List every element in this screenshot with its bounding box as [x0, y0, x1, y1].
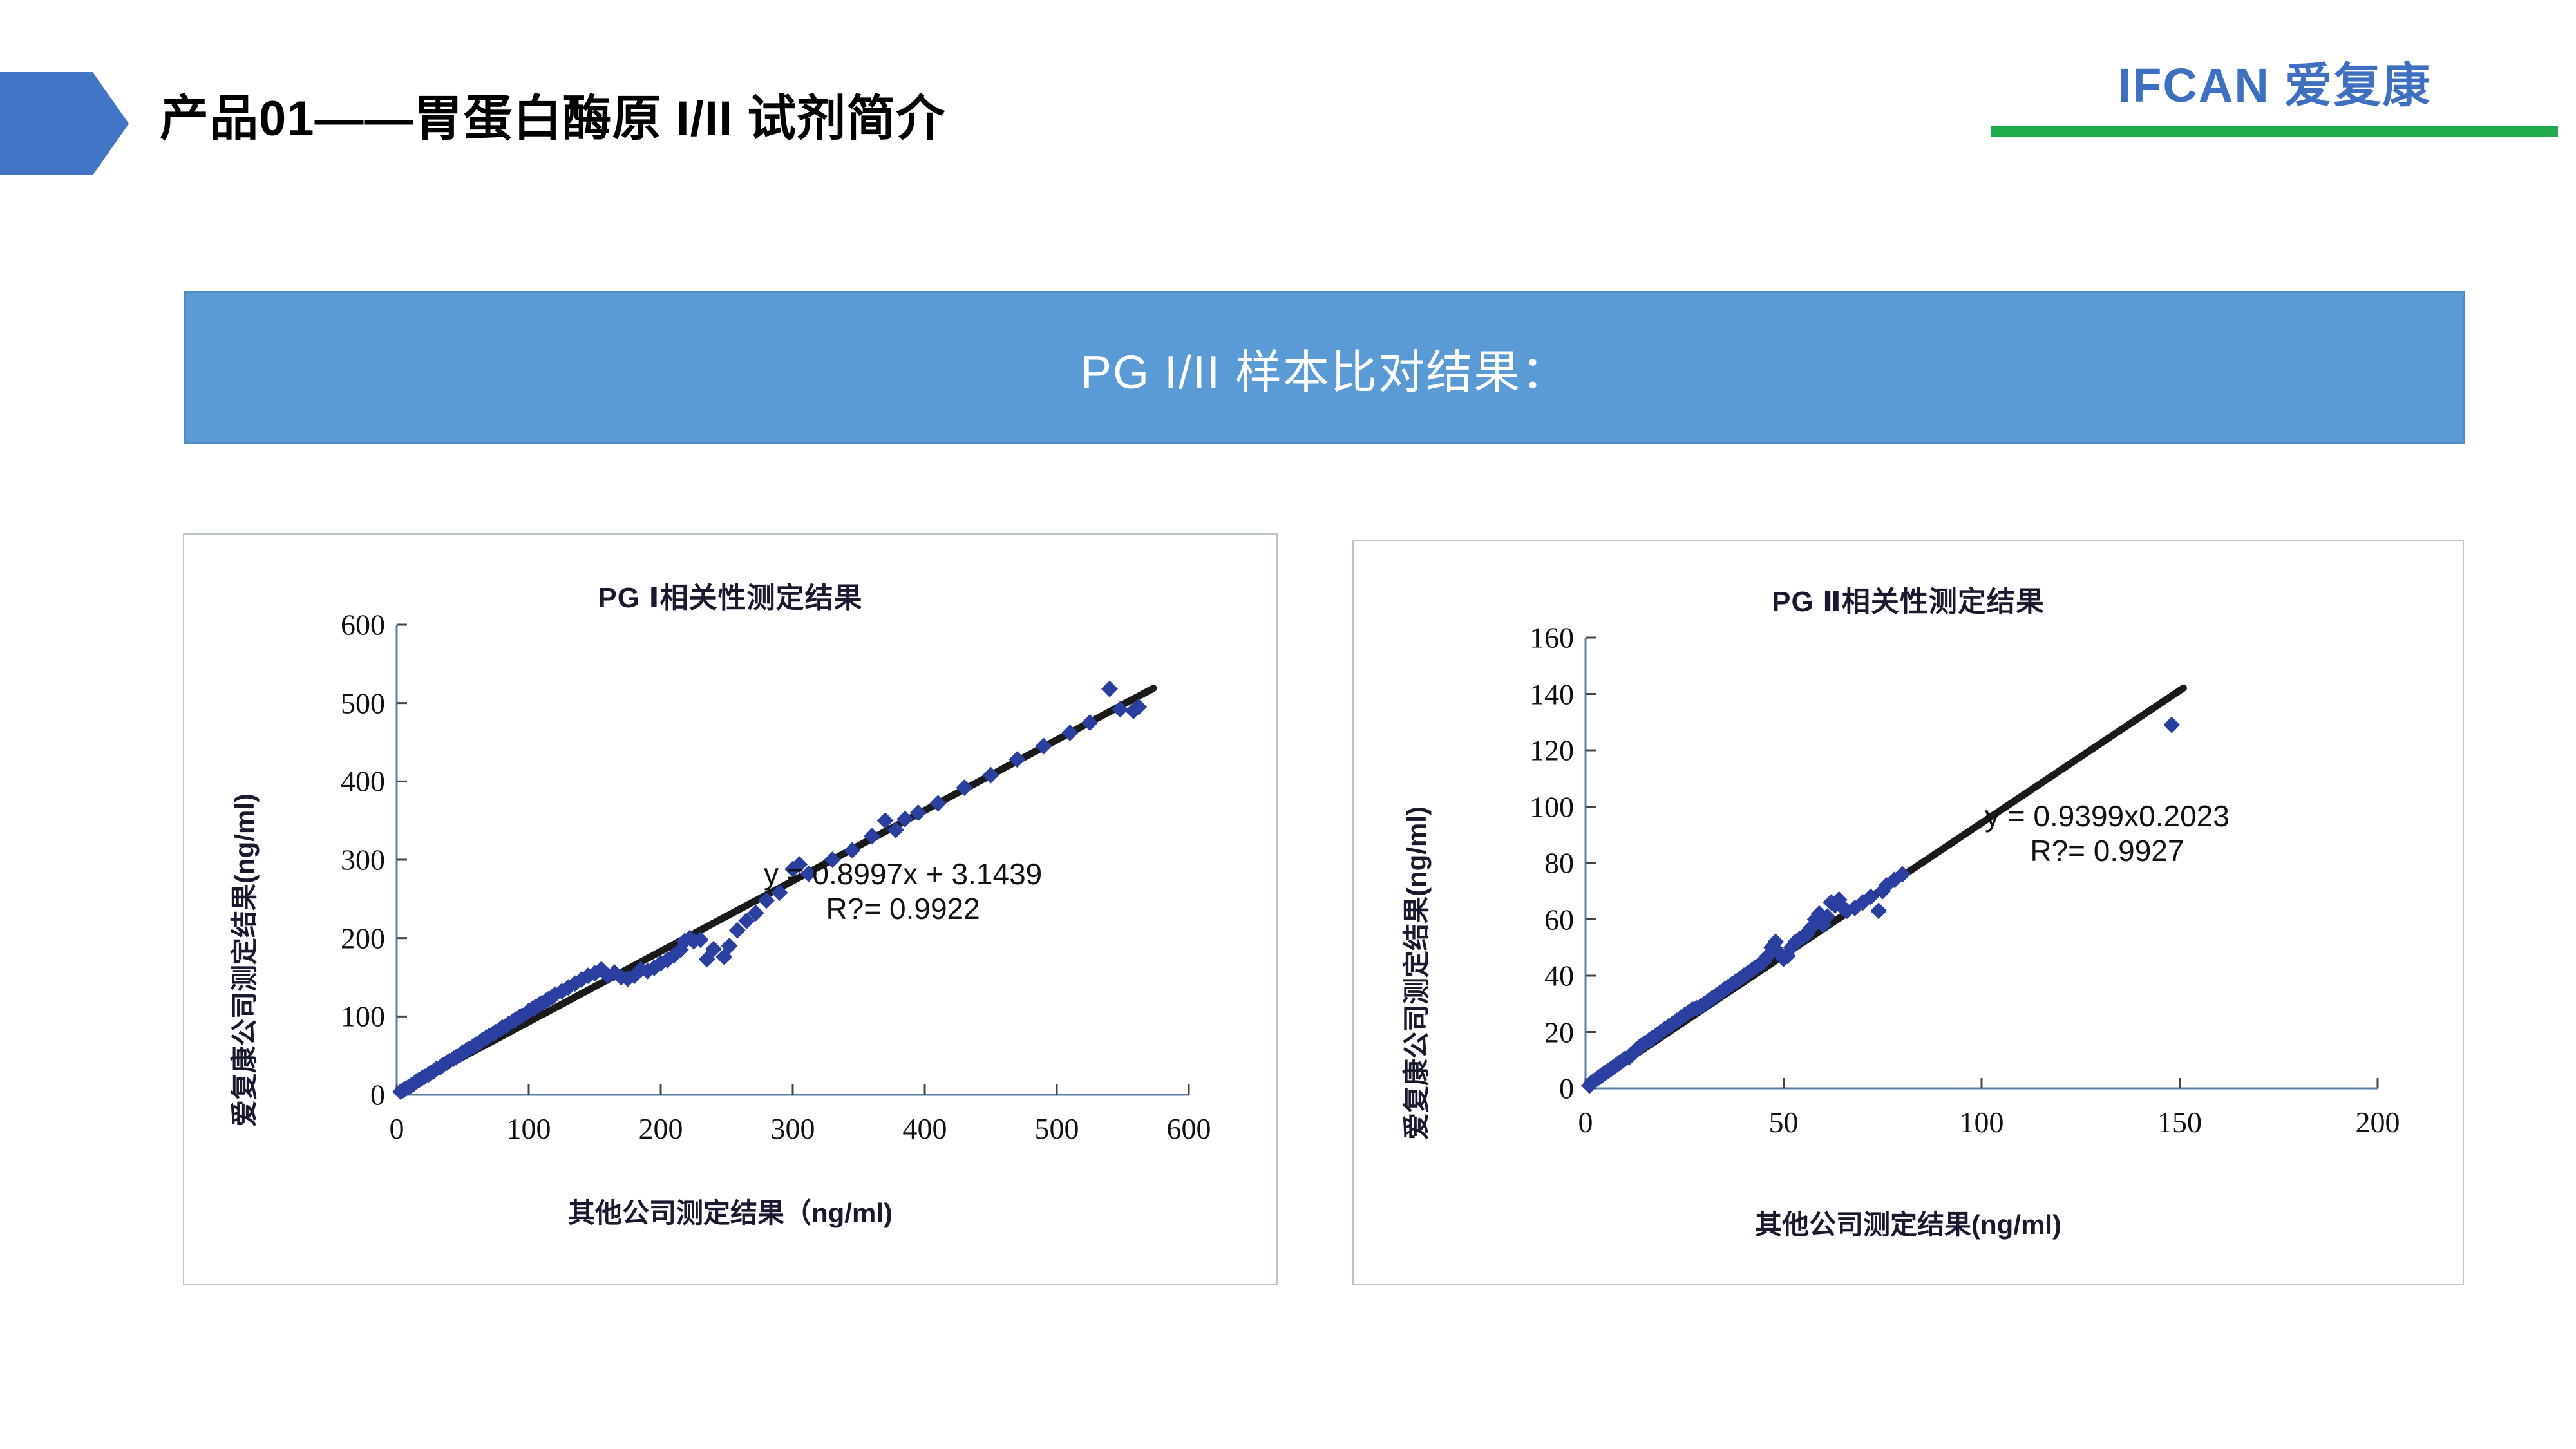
brand-name: IFCAN 爱复康 — [1991, 62, 2558, 109]
y-tick-label: 20 — [1544, 1015, 1574, 1049]
data-point — [1101, 681, 1118, 697]
section-banner: PG I/II 样本比对结果： — [184, 291, 2465, 444]
x-tick-label: 300 — [771, 1112, 815, 1146]
x-tick-label: 100 — [1960, 1105, 2004, 1139]
x-tick-label: 50 — [1769, 1105, 1799, 1139]
chart-pg1-equation: y = 0.8997x + 3.1439 R?= 0.9922 — [764, 857, 1042, 927]
chart-pg2-equation: y = 0.9399x0.2023 R?= 0.9927 — [1985, 799, 2230, 869]
y-tick-label: 100 — [1529, 790, 1574, 824]
section-banner-label: PG I/II 样本比对结果： — [1081, 334, 1569, 402]
y-tick-label: 300 — [341, 843, 385, 877]
chart-pg1: PG Ⅰ相关性测定结果 爱复康公司测定结果(ng/ml) 其他公司测定结果（ng… — [184, 535, 1276, 1284]
brand-logo: IFCAN 爱复康 — [1991, 62, 2558, 137]
x-tick-label: 600 — [1167, 1112, 1211, 1146]
title-accent-arrow — [0, 72, 129, 175]
y-tick-label: 600 — [341, 608, 385, 642]
chart-pg1-x-axis-title: 其他公司测定结果（ng/ml) — [184, 1191, 1276, 1231]
x-tick-label: 500 — [1035, 1112, 1079, 1146]
x-tick-label: 200 — [639, 1112, 683, 1146]
chart-pg1-frame: PG Ⅰ相关性测定结果 爱复康公司测定结果(ng/ml) 其他公司测定结果（ng… — [183, 533, 1278, 1285]
chart-pg2: PG Ⅱ相关性测定结果 爱复康公司测定结果(ng/ml) 其他公司测定结果(ng… — [1354, 541, 2463, 1284]
x-tick-label: 100 — [507, 1112, 551, 1146]
x-tick-label: 0 — [1578, 1105, 1593, 1139]
page-title: 产品01——胃蛋白酶原 I/II 试剂简介 — [160, 79, 945, 149]
y-tick-label: 400 — [341, 764, 385, 799]
y-tick-label: 0 — [370, 1078, 385, 1112]
x-tick-label: 400 — [903, 1112, 947, 1146]
data-point — [1870, 902, 1887, 919]
brand-underline-rule — [1991, 126, 2558, 137]
slide-header: 产品01——胃蛋白酶原 I/II 试剂简介 IFCAN 爱复康 — [0, 0, 2576, 193]
y-tick-label: 80 — [1544, 846, 1574, 880]
y-tick-label: 40 — [1544, 959, 1574, 993]
y-tick-label: 500 — [341, 686, 385, 720]
y-tick-label: 140 — [1529, 677, 1574, 711]
x-tick-label: 0 — [390, 1112, 404, 1146]
y-tick-label: 200 — [341, 921, 385, 955]
x-tick-label: 200 — [2356, 1105, 2400, 1139]
chart-pg2-x-axis-title: 其他公司测定结果(ng/ml) — [1354, 1203, 2463, 1242]
y-tick-label: 60 — [1544, 902, 1574, 936]
chart-pg1-plot — [184, 535, 1276, 1284]
chart-pg2-frame: PG Ⅱ相关性测定结果 爱复康公司测定结果(ng/ml) 其他公司测定结果(ng… — [1352, 540, 2464, 1285]
chart-pg2-title: PG Ⅱ相关性测定结果 — [1354, 578, 2463, 620]
chart-pg2-plot — [1354, 541, 2463, 1284]
data-point — [2163, 717, 2180, 734]
chart-pg2-y-axis-title: 爱复康公司测定结果(ng/ml) — [1395, 806, 1434, 1140]
x-tick-label: 150 — [2157, 1105, 2202, 1139]
y-tick-label: 120 — [1529, 734, 1574, 768]
y-tick-label: 160 — [1529, 621, 1574, 655]
chart-pg1-y-axis-title: 爱复康公司测定结果(ng/ml) — [223, 793, 262, 1127]
y-tick-label: 100 — [341, 999, 385, 1034]
y-tick-label: 0 — [1559, 1072, 1574, 1106]
